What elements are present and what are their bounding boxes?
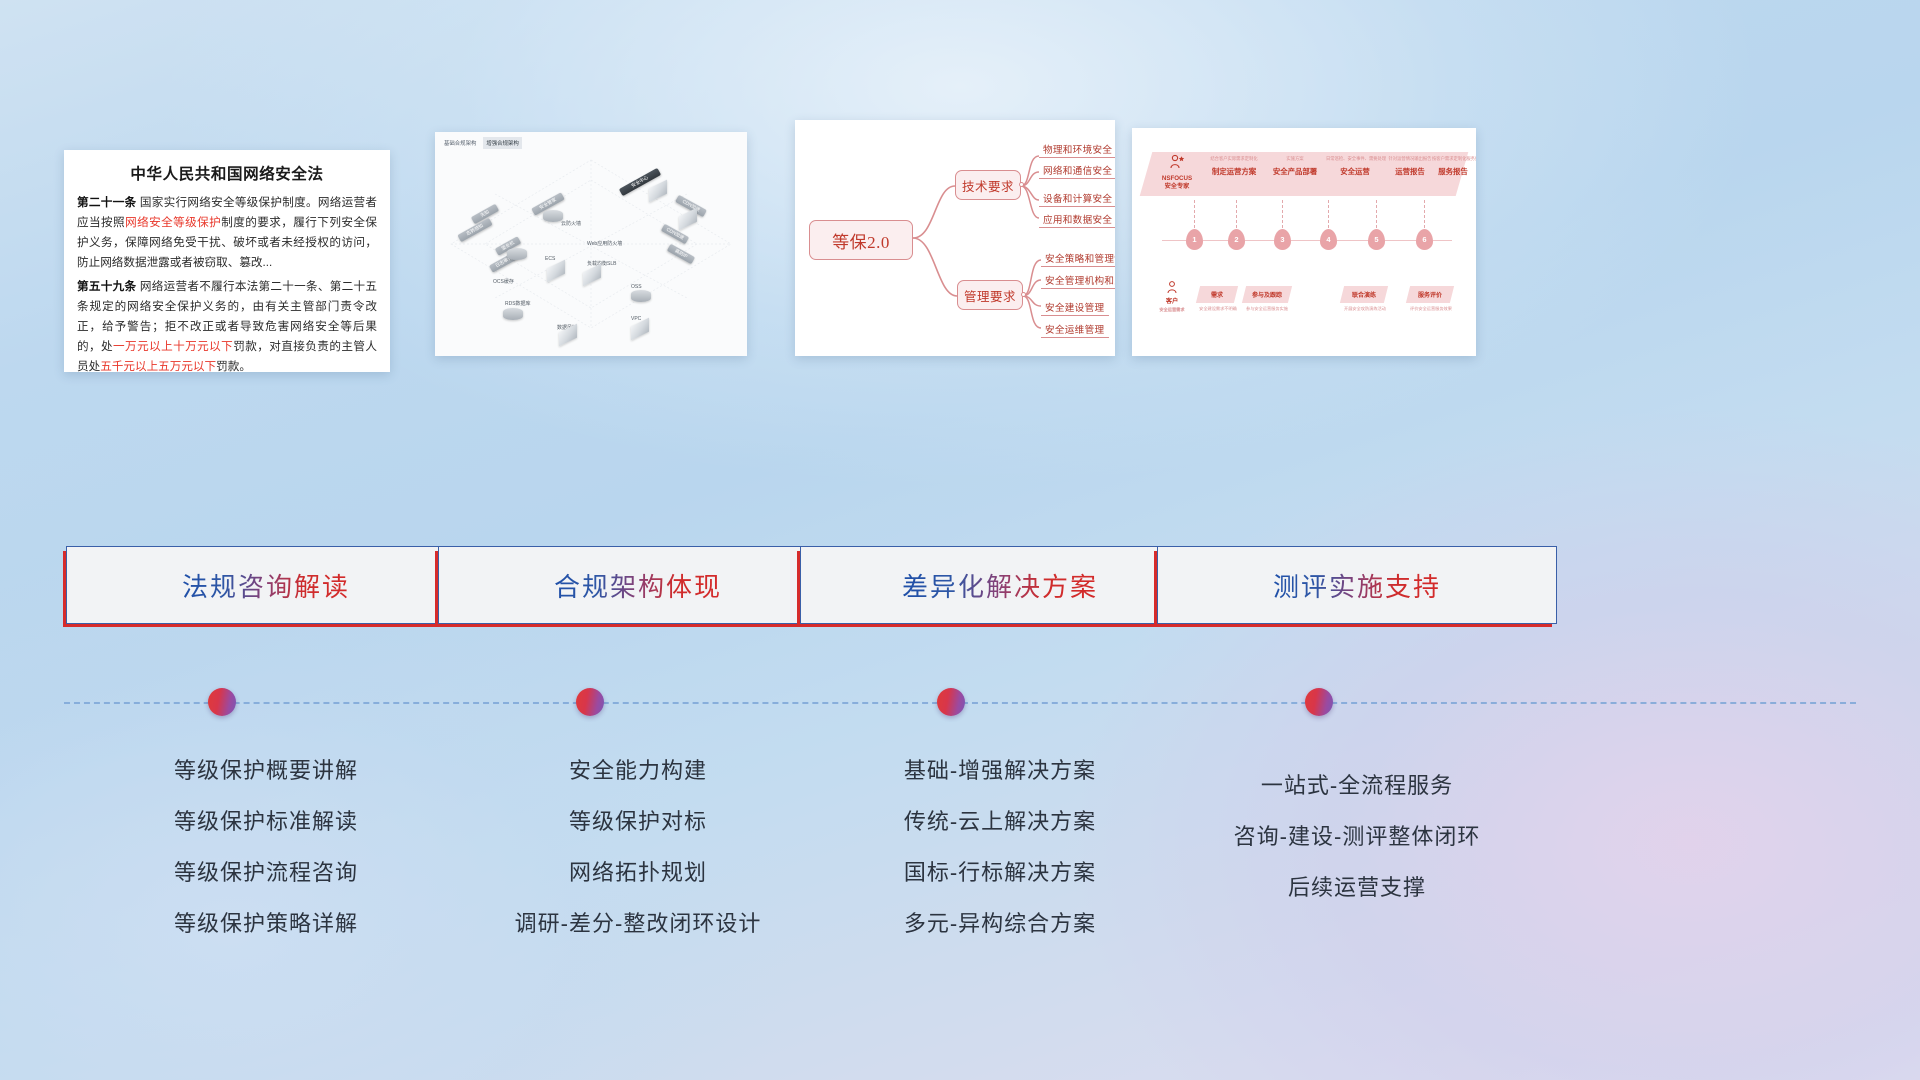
card-cybersecurity-law[interactable]: 中华人民共和国网络安全法 第二十一条 国家实行网络安全等级保护制度。网络运营者应… xyxy=(64,150,390,372)
arch-label-waf: Web应用防火墙 xyxy=(587,240,622,247)
list-item[interactable]: 基础-增强解决方案 xyxy=(800,745,1200,796)
service-step-4[interactable]: 4 xyxy=(1320,229,1337,250)
article-59-text-3: 罚款。 xyxy=(216,360,251,373)
customer-person-icon xyxy=(1164,280,1180,294)
mindmap-leaf-construction-mgmt[interactable]: 安全建设管理 xyxy=(1041,300,1109,316)
list-item[interactable]: 咨询-建设-测评整体闭环 xyxy=(1157,811,1557,862)
timeline-dashed-line xyxy=(64,702,1856,704)
mindmap-root-node[interactable]: 等保2.0 xyxy=(809,220,913,260)
service-column-2-sub: 实施方案 xyxy=(1266,156,1324,161)
service-column-4[interactable]: 针对运营情况输出报告 运营报告 xyxy=(1386,156,1434,177)
expert-badge: NSFOCUS 安全专家 xyxy=(1154,154,1200,192)
service-column-4-sub: 针对运营情况输出报告 xyxy=(1386,156,1434,161)
service-column-5-sub: 按客户需求定制化服务报告 xyxy=(1432,156,1474,161)
list-item[interactable]: 多元-异构综合方案 xyxy=(800,898,1200,949)
list-item[interactable]: 调研-差分-整改闭环设计 xyxy=(438,898,838,949)
service-step-6[interactable]: 6 xyxy=(1416,229,1433,250)
service-dash-3 xyxy=(1282,200,1283,228)
service-column-2-main: 安全产品部署 xyxy=(1266,166,1324,177)
law-title: 中华人民共和国网络安全法 xyxy=(77,162,377,184)
list-item[interactable]: 传统-云上解决方案 xyxy=(800,796,1200,847)
mindmap-branch-management[interactable]: 管理要求 xyxy=(957,280,1023,310)
pill-differentiated-solution-label: 差异化解决方案 xyxy=(902,567,1098,604)
mindmap-leaf-network-comm[interactable]: 网络和通信安全 xyxy=(1039,163,1115,179)
service-column-2[interactable]: 实施方案 安全产品部署 xyxy=(1266,156,1324,177)
list-item[interactable]: 等级保护标准解读 xyxy=(66,796,466,847)
service-column-4-main: 运营报告 xyxy=(1386,166,1434,177)
list-column-1: 等级保护概要讲解 等级保护标准解读 等级保护流程咨询 等级保护策略详解 xyxy=(66,745,466,949)
list-column-2: 安全能力构建 等级保护对标 网络拓扑规划 调研-差分-整改闭环设计 xyxy=(438,745,838,949)
article-59-penalty-1: 一万元以上十万元以下 xyxy=(113,340,233,353)
pill-assessment-support-label: 测评实施支持 xyxy=(1273,567,1441,604)
timeline-dot-3[interactable] xyxy=(937,688,965,716)
article-21-label: 第二十一条 xyxy=(77,196,136,209)
pill-compliance-architecture-label: 合规架构体现 xyxy=(554,567,722,604)
service-axis-line xyxy=(1162,240,1452,241)
list-column-4: 一站式-全流程服务 咨询-建设-测评整体闭环 后续运营支撑 xyxy=(1157,760,1557,913)
list-item[interactable]: 等级保护概要讲解 xyxy=(66,745,466,796)
arch-label-ecs: ECS xyxy=(545,256,555,262)
timeline-dot-4[interactable] xyxy=(1305,688,1333,716)
tab-basic-architecture[interactable]: 基础合规架构 xyxy=(441,137,479,149)
service-column-1-main: 制定运营方案 xyxy=(1204,166,1264,177)
service-dash-2 xyxy=(1236,200,1237,228)
tab-enhanced-architecture[interactable]: 增强合规架构 xyxy=(483,137,521,149)
service-column-3-sub: 日常巡检、安全事件、需要处理 xyxy=(1326,156,1384,161)
mindmap-collapse-dot-technical[interactable] xyxy=(1019,182,1024,187)
list-item[interactable]: 等级保护策略详解 xyxy=(66,898,466,949)
arch-shape-cylinder-2 xyxy=(507,248,527,260)
timeline-dot-1[interactable] xyxy=(208,688,236,716)
article-59-label: 第五十九条 xyxy=(77,280,136,293)
mindmap-leaf-ops-mgmt[interactable]: 安全运维管理 xyxy=(1041,322,1109,338)
expert-label-role: 安全专家 xyxy=(1154,183,1200,191)
service-dash-1 xyxy=(1194,200,1195,228)
article-21-highlight: 网络安全等级保护 xyxy=(125,216,221,229)
mindmap-leaf-device-compute[interactable]: 设备和计算安全 xyxy=(1039,191,1115,207)
card-mindmap-dengbao[interactable]: 等保2.0 技术要求 管理要求 物理和环境安全 网络和通信安全 设备和计算安全 … xyxy=(795,120,1115,356)
service-column-5-main: 服务报告 xyxy=(1432,166,1474,177)
bottom-tag-review-caption: 评价安全运营服务效果 xyxy=(1402,306,1460,312)
arch-label-ocs: OCS缓存 xyxy=(493,278,514,285)
customer-badge: 客户 安全运营需求 xyxy=(1150,280,1194,313)
bottom-tag-drill-caption: 开展安全攻防演练活动 xyxy=(1336,306,1394,312)
pill-assessment-support[interactable]: 测评实施支持 xyxy=(1157,546,1557,624)
list-item[interactable]: 一站式-全流程服务 xyxy=(1157,760,1557,811)
mindmap-leaf-org-personnel[interactable]: 安全管理机构和人员 xyxy=(1041,273,1115,289)
arch-shape-cylinder-3 xyxy=(503,308,523,320)
service-column-1-sub: 结合客户实际需求定制化 xyxy=(1204,156,1264,161)
service-step-3[interactable]: 3 xyxy=(1274,229,1291,250)
expert-person-icon xyxy=(1168,154,1186,170)
architecture-tabs[interactable]: 基础合规架构 增强合规架构 xyxy=(441,137,522,149)
card-service-timeline[interactable]: NSFOCUS 安全专家 结合客户实际需求定制化 制定运营方案 实施方案 安全产… xyxy=(1132,128,1476,356)
mindmap-leaf-app-data[interactable]: 应用和数据安全 xyxy=(1039,212,1115,228)
mindmap-leaf-physical-env[interactable]: 物理和环境安全 xyxy=(1039,142,1115,158)
service-dash-5 xyxy=(1376,200,1377,228)
customer-caption: 安全运营需求 xyxy=(1150,307,1194,313)
service-column-1[interactable]: 结合客户实际需求定制化 制定运营方案 xyxy=(1204,156,1264,177)
mindmap-branch-technical[interactable]: 技术要求 xyxy=(955,170,1021,200)
pill-regulation-consulting-label: 法规咨询解读 xyxy=(182,567,350,604)
list-column-3: 基础-增强解决方案 传统-云上解决方案 国标-行标解决方案 多元-异构综合方案 xyxy=(800,745,1200,949)
list-item[interactable]: 安全能力构建 xyxy=(438,745,838,796)
bottom-tag-demand-caption: 安全建设需求不明确 xyxy=(1192,306,1244,312)
list-item[interactable]: 等级保护流程咨询 xyxy=(66,847,466,898)
service-column-3[interactable]: 日常巡检、安全事件、需要处理 安全运营 xyxy=(1326,156,1384,177)
service-column-3-main: 安全运营 xyxy=(1326,166,1384,177)
service-column-5[interactable]: 按客户需求定制化服务报告 服务报告 xyxy=(1432,156,1474,177)
law-article-21: 第二十一条 国家实行网络安全等级保护制度。网络运营者应当按照网络安全等级保护制度… xyxy=(77,193,377,273)
arch-shape-cylinder-1 xyxy=(543,210,563,222)
service-dash-4 xyxy=(1328,200,1329,228)
card-compliance-architecture[interactable]: 基础合规架构 增强合规架构 安全中心 先知 态势感知 安全管家 堡垒机 日志审计… xyxy=(435,132,747,356)
pill-regulation-consulting[interactable]: 法规咨询解读 xyxy=(66,546,466,624)
article-59-penalty-2: 五千元以上五万元以下 xyxy=(100,360,216,373)
law-article-59: 第五十九条 网络运营者不履行本法第二十一条、第二十五条规定的网络安全保护义务的，… xyxy=(77,277,377,372)
service-step-1[interactable]: 1 xyxy=(1186,229,1203,250)
pill-differentiated-solution[interactable]: 差异化解决方案 xyxy=(800,546,1200,624)
service-step-2[interactable]: 2 xyxy=(1228,229,1245,250)
list-item[interactable]: 网络拓扑规划 xyxy=(438,847,838,898)
arch-label-firewall: 云防火墙 xyxy=(561,220,581,227)
arch-label-slb: 负载均衡SLB xyxy=(587,260,616,267)
card-strip: 中华人民共和国网络安全法 第二十一条 国家实行网络安全等级保护制度。网络运营者应… xyxy=(0,0,1920,440)
pill-compliance-architecture[interactable]: 合规架构体现 xyxy=(438,546,838,624)
service-dash-6 xyxy=(1424,200,1425,228)
mindmap-collapse-dot-management[interactable] xyxy=(1021,292,1026,297)
arch-label-rds: RDS数据库 xyxy=(505,300,531,307)
timeline-dot-2[interactable] xyxy=(576,688,604,716)
list-item[interactable]: 国标-行标解决方案 xyxy=(800,847,1200,898)
bottom-tag-review[interactable]: 服务评价 xyxy=(1406,286,1454,303)
mindmap-leaf-policy-system[interactable]: 安全策略和管理制度 xyxy=(1041,251,1115,267)
arch-shape-cylinder-4 xyxy=(631,290,651,302)
bottom-tag-participation-caption: 参与安全运营服务实施 xyxy=(1238,306,1296,312)
bottom-tag-participation[interactable]: 参与及跟踪 xyxy=(1242,286,1292,303)
list-item[interactable]: 等级保护对标 xyxy=(438,796,838,847)
list-item[interactable]: 后续运营支撑 xyxy=(1157,862,1557,913)
customer-label: 客户 xyxy=(1150,296,1194,305)
bottom-tag-drill[interactable]: 联合演练 xyxy=(1340,286,1388,303)
bottom-tag-demand[interactable]: 需求 xyxy=(1196,286,1238,303)
service-step-5[interactable]: 5 xyxy=(1368,229,1385,250)
